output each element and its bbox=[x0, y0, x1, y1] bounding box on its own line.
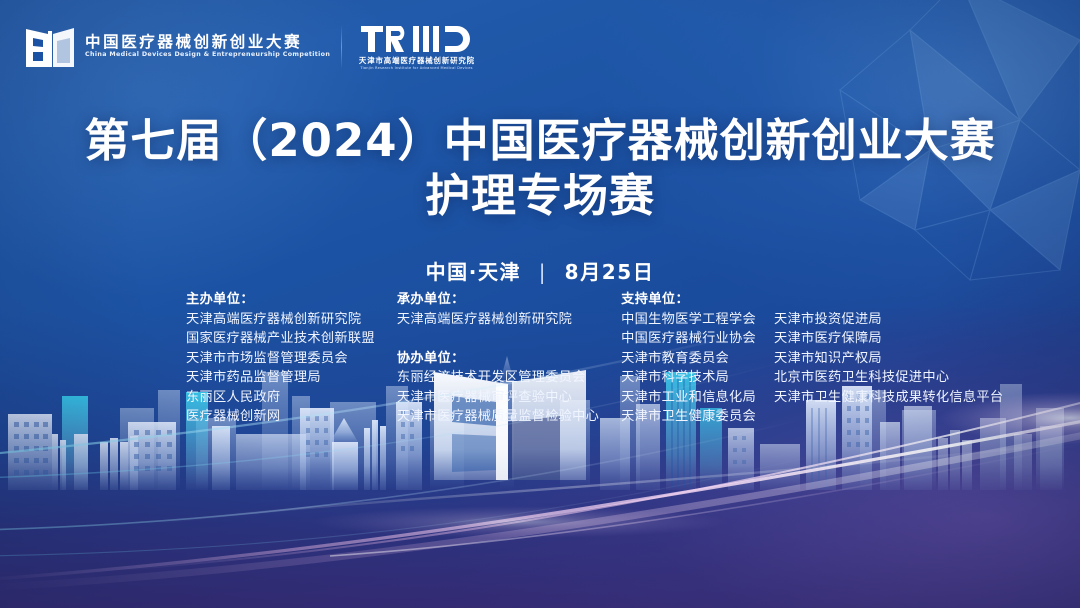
support-subcolumn-left: 中国生物医学工程学会 中国医疗器械行业协会 天津市教育委员会 天津市科学技术局 … bbox=[621, 310, 756, 427]
organizer-heading: 支持单位： bbox=[621, 290, 1003, 310]
organizer-item: 天津市卫生健康科技成果转化信息平台 bbox=[774, 388, 1003, 408]
organizer-item: 天津市卫生健康委员会 bbox=[621, 407, 756, 427]
secondary-logo-cn: 天津市高端医疗器械创新研究院 bbox=[359, 57, 475, 64]
organizer-heading: 主办单位： bbox=[186, 290, 375, 310]
organizer-item: 国家医疗器械产业技术创新联盟 bbox=[186, 329, 375, 349]
organizer-item: 天津市工业和信息化局 bbox=[621, 388, 756, 408]
organizer-item: 东丽区人民政府 bbox=[186, 388, 375, 408]
event-location: 中国·天津 bbox=[426, 260, 522, 284]
title-line-2: 护理专场赛 bbox=[0, 169, 1080, 224]
title-line-1: 第七届（2024）中国医疗器械创新创业大赛 bbox=[0, 114, 1080, 169]
page-title: 第七届（2024）中国医疗器械创新创业大赛 护理专场赛 bbox=[0, 114, 1080, 224]
organizer-item: 天津市教育委员会 bbox=[621, 349, 756, 369]
trmd-wordmark-icon bbox=[361, 24, 473, 54]
subtitle-separator: | bbox=[539, 260, 547, 284]
organizer-item: 天津市科学技术局 bbox=[621, 368, 756, 388]
organizer-item: 天津高端医疗器械创新研究院 bbox=[186, 310, 375, 330]
organizers-block: 主办单位： 天津高端医疗器械创新研究院 国家医疗器械产业技术创新联盟 天津市市场… bbox=[186, 290, 1003, 427]
organizer-column-organizer: 承办单位： 天津高端医疗器械创新研究院 协办单位： 东丽经济技术开发区管理委员会… bbox=[397, 290, 599, 427]
organizer-column-host: 主办单位： 天津高端医疗器械创新研究院 国家医疗器械产业技术创新联盟 天津市市场… bbox=[186, 290, 375, 427]
organizer-spacer bbox=[397, 329, 599, 349]
event-subtitle: 中国·天津 | 8月25日 bbox=[0, 256, 1080, 285]
organizer-item: 北京市医药卫生科技促进中心 bbox=[774, 368, 1003, 388]
secondary-logo-en: Tianjin Research Institute for Advanced … bbox=[361, 67, 473, 71]
organizer-item: 中国医疗器械行业协会 bbox=[621, 329, 756, 349]
primary-logo-cn: 中国医疗器械创新创业大赛 bbox=[85, 34, 325, 50]
organizer-item: 天津市医疗器械质量监督检验中心 bbox=[397, 407, 599, 427]
event-poster: 中国医疗器械创新创业大赛 China Medical Devices Desig… bbox=[0, 0, 1080, 608]
organizer-item: 天津市市场监督管理委员会 bbox=[186, 349, 375, 369]
event-date: 8月25日 bbox=[565, 260, 655, 284]
organizer-item: 中国生物医学工程学会 bbox=[621, 310, 756, 330]
primary-logo-en: China Medical Devices Design & Entrepren… bbox=[85, 52, 330, 59]
organizer-heading: 承办单位： bbox=[397, 290, 599, 310]
organizer-item: 天津市知识产权局 bbox=[774, 349, 1003, 369]
organizer-column-support: 支持单位： 中国生物医学工程学会 中国医疗器械行业协会 天津市教育委员会 天津市… bbox=[621, 290, 1003, 427]
organizer-item: 东丽经济技术开发区管理委员会 bbox=[397, 368, 599, 388]
organizer-item: 天津市医疗保障局 bbox=[774, 329, 1003, 349]
support-subcolumn-right: 天津市投资促进局 天津市医疗保障局 天津市知识产权局 北京市医药卫生科技促进中心… bbox=[774, 310, 1003, 427]
primary-logo: 中国医疗器械创新创业大赛 China Medical Devices Desig… bbox=[24, 23, 325, 71]
organizer-item: 天津市药品监督管理局 bbox=[186, 368, 375, 388]
organizer-item: 天津市医疗器械审评查验中心 bbox=[397, 388, 599, 408]
organizer-item: 医疗器械创新网 bbox=[186, 407, 375, 427]
header-logos: 中国医疗器械创新创业大赛 China Medical Devices Desig… bbox=[24, 22, 476, 71]
secondary-logo: 天津市高端医疗器械创新研究院 Tianjin Research Institut… bbox=[358, 22, 475, 71]
organizer-item: 天津高端医疗器械创新研究院 bbox=[397, 310, 599, 330]
logo-divider bbox=[341, 25, 342, 69]
organizer-item: 天津市投资促进局 bbox=[774, 310, 1003, 330]
open-door-book-icon bbox=[24, 23, 76, 71]
organizer-heading: 协办单位： bbox=[397, 349, 599, 369]
